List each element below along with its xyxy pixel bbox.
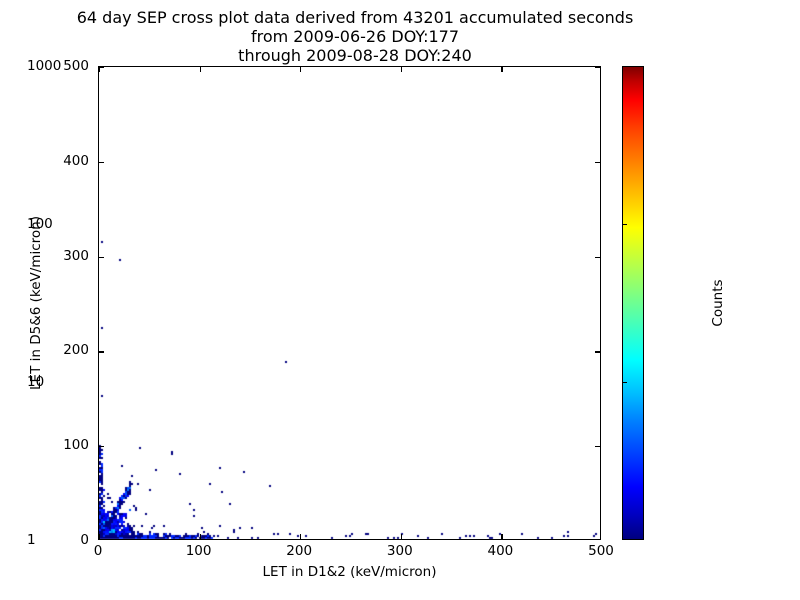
x-tick-label-0: 0 [94, 543, 103, 559]
chart-title-group: 64 day SEP cross plot data derived from … [0, 8, 710, 65]
x-tick-300 [401, 534, 402, 539]
colorbar-tick-label-10: 10 [27, 374, 44, 390]
x-tick-0 [99, 534, 100, 539]
x-tick-200 [300, 534, 301, 539]
x-tick-top-300 [401, 67, 402, 72]
x-tick-top-100 [200, 67, 201, 72]
y-tick-right-300 [595, 257, 600, 258]
y-tick-label-0: 0 [29, 532, 89, 548]
x-tick-top-400 [501, 67, 502, 72]
x-tick-label-300: 300 [387, 543, 413, 559]
colorbar-tick-100 [622, 224, 627, 225]
y-tick-200 [99, 351, 104, 352]
y-tick-right-200 [595, 351, 600, 352]
chart-title-line-2: from 2009-06-26 DOY:177 [0, 27, 710, 46]
colorbar-label: Counts [710, 256, 726, 303]
x-tick-label-500: 500 [588, 543, 614, 559]
x-tick-100 [200, 534, 201, 539]
y-tick-300 [99, 257, 104, 258]
y-tick-right-400 [595, 162, 600, 163]
y-tick-label-100: 100 [29, 437, 89, 453]
colorbar-tick-10 [622, 382, 627, 383]
figure-canvas: 64 day SEP cross plot data derived from … [0, 0, 800, 600]
y-tick-100 [99, 446, 104, 447]
colorbar-gradient [622, 66, 644, 540]
colorbar-tick-1000 [622, 66, 627, 67]
colorbar-label-text: Counts [710, 279, 726, 326]
colorbar-tick-label-100: 100 [27, 216, 53, 232]
y-tick-right-100 [595, 446, 600, 447]
x-tick-label-100: 100 [186, 543, 212, 559]
x-tick-400 [501, 534, 502, 539]
chart-title-line-1: 64 day SEP cross plot data derived from … [0, 8, 710, 27]
colorbar-tick-1 [622, 539, 627, 540]
y-tick-500 [99, 67, 104, 68]
colorbar-tick-label-1: 1 [27, 532, 36, 548]
colorbar[interactable] [622, 66, 644, 540]
x-tick-label-200: 200 [286, 543, 312, 559]
x-tick-top-200 [300, 67, 301, 72]
y-tick-right-500 [595, 67, 600, 68]
chart-title-line-3: through 2009-08-28 DOY:240 [0, 46, 710, 65]
x-tick-label-400: 400 [488, 543, 514, 559]
y-axis-label-text: LET in D5&6 (keV/micron) [28, 216, 44, 390]
y-tick-400 [99, 162, 104, 163]
plot-area[interactable] [98, 66, 601, 540]
colorbar-tick-label-1000: 1000 [27, 58, 61, 74]
x-axis-label: LET in D1&2 (keV/micron) [98, 564, 601, 580]
scatter-density-layer [99, 67, 601, 540]
